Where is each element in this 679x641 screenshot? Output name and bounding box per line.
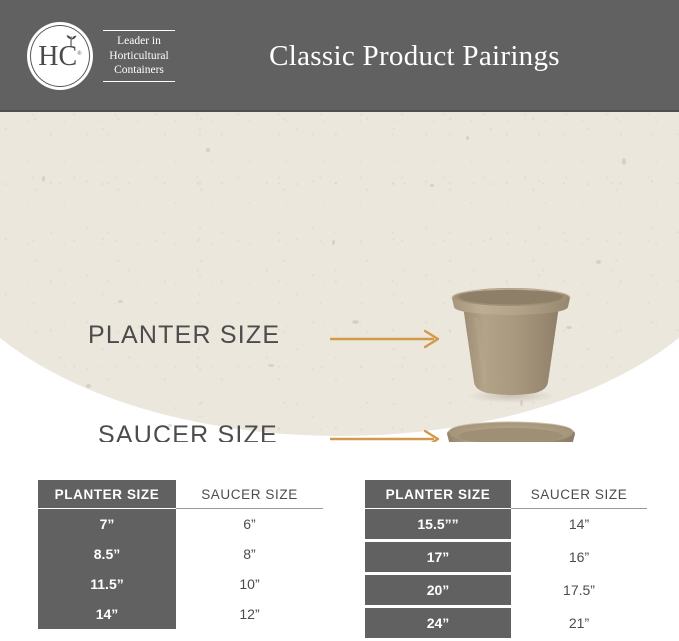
- column-header-saucer: SAUCER SIZE: [511, 480, 647, 508]
- brand-logo[interactable]: HC® Leader in Horticultural Containers: [27, 22, 175, 90]
- hc-logo-mark: HC®: [27, 22, 93, 90]
- table-row: 7” 6”: [38, 509, 323, 539]
- texture-speck: [430, 184, 434, 187]
- cell-planter-size: 8.5”: [38, 539, 176, 569]
- table-header-row: PLANTER SIZE SAUCER SIZE: [365, 480, 647, 508]
- saucer-dish-icon: [443, 417, 579, 442]
- texture-speck: [596, 260, 601, 264]
- texture-speck: [42, 176, 45, 182]
- cell-saucer-size: 10”: [176, 569, 323, 599]
- cell-planter-size: 11.5”: [38, 569, 176, 599]
- hero-background: [0, 112, 679, 436]
- column-header-planter: PLANTER SIZE: [38, 480, 176, 508]
- table-row: 15.5”” 14”: [365, 509, 647, 539]
- logo-tagline-line-3: Containers: [103, 63, 175, 78]
- planter-size-label: PLANTER SIZE: [88, 321, 280, 350]
- texture-speck: [332, 240, 335, 245]
- texture-speck: [118, 300, 123, 303]
- hero-section: PLANTER SIZE SAUCER SIZE: [0, 112, 679, 442]
- logo-monogram-text: HC: [38, 41, 77, 72]
- cell-planter-size: 14”: [38, 599, 176, 629]
- cell-planter-size: 15.5””: [365, 509, 511, 539]
- cell-saucer-size: 8”: [176, 539, 323, 569]
- texture-speck: [466, 136, 469, 140]
- page-title-text: Classic Product Pairings: [269, 40, 560, 73]
- logo-tagline-line-1: Leader in: [103, 34, 175, 49]
- texture-speck: [86, 384, 91, 388]
- table-row: 14” 12”: [38, 599, 323, 629]
- logo-monogram: HC®: [27, 43, 93, 71]
- texture-speck: [206, 148, 210, 152]
- texture-speck: [352, 320, 359, 324]
- texture-speck: [268, 364, 274, 367]
- logo-tagline-line-2: Horticultural: [103, 49, 175, 64]
- cell-saucer-size: 17.5”: [511, 575, 647, 605]
- cell-planter-size: 24”: [365, 608, 511, 638]
- cell-saucer-size: 6”: [176, 509, 323, 539]
- cell-saucer-size: 12”: [176, 599, 323, 629]
- texture-speck: [622, 158, 626, 165]
- planter-pot-icon: [446, 284, 576, 404]
- table-body: 15.5”” 14” 17” 16” 20” 17.5” 24” 21”: [365, 509, 647, 638]
- cell-planter-size: 7”: [38, 509, 176, 539]
- table-row: 8.5” 8”: [38, 539, 323, 569]
- size-table-large: PLANTER SIZE SAUCER SIZE 15.5”” 14” 17” …: [365, 480, 647, 641]
- column-header-saucer: SAUCER SIZE: [176, 480, 323, 508]
- logo-tagline: Leader in Horticultural Containers: [103, 30, 175, 82]
- table-header-row: PLANTER SIZE SAUCER SIZE: [38, 480, 323, 508]
- table-row: 20” 17.5”: [365, 575, 647, 605]
- table-row: 11.5” 10”: [38, 569, 323, 599]
- table-row: 24” 21”: [365, 608, 647, 638]
- logo-trademark: ®: [77, 51, 82, 57]
- page-header: HC® Leader in Horticultural Containers C…: [0, 0, 679, 112]
- cell-saucer-size: 16”: [511, 542, 647, 572]
- cell-saucer-size: 14”: [511, 509, 647, 539]
- cell-planter-size: 17”: [365, 542, 511, 572]
- size-tables-section: PLANTER SIZE SAUCER SIZE 7” 6” 8.5” 8” 1…: [0, 442, 679, 636]
- cell-planter-size: 20”: [365, 575, 511, 605]
- table-body: 7” 6” 8.5” 8” 11.5” 10” 14” 12”: [38, 509, 323, 629]
- table-row: 17” 16”: [365, 542, 647, 572]
- saucer-size-label: SAUCER SIZE: [98, 421, 278, 442]
- column-header-planter: PLANTER SIZE: [365, 480, 511, 508]
- size-table-small: PLANTER SIZE SAUCER SIZE 7” 6” 8.5” 8” 1…: [38, 480, 323, 629]
- cell-saucer-size: 21”: [511, 608, 647, 638]
